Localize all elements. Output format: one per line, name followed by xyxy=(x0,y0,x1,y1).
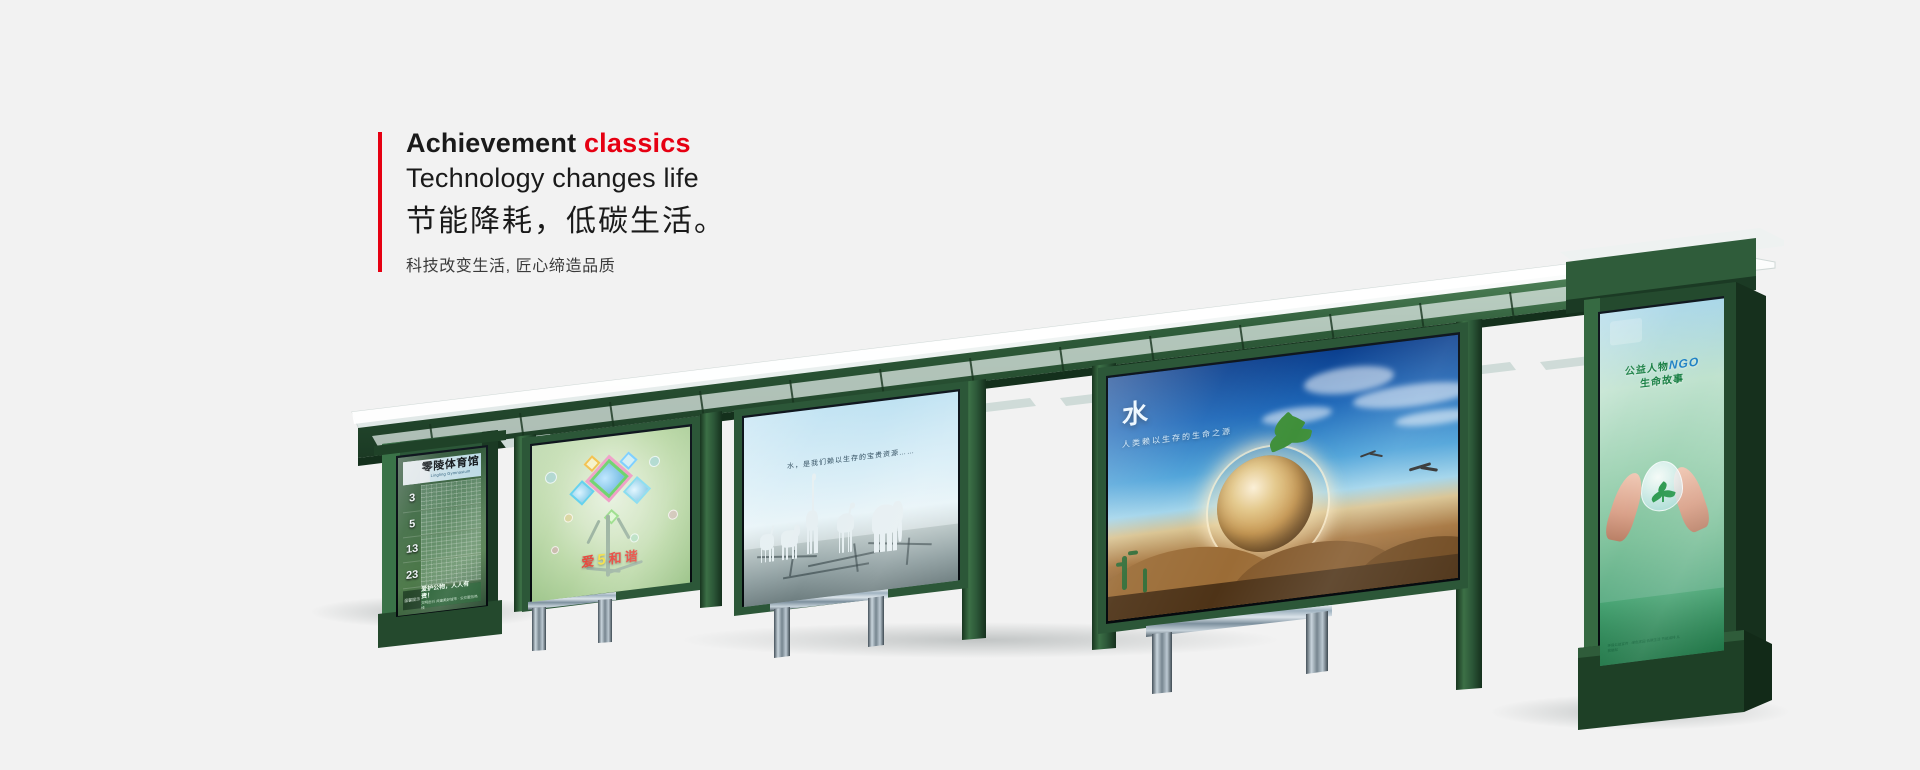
canopy-front-edge xyxy=(352,248,1702,424)
cactus-arm xyxy=(1128,550,1138,555)
route-header-logo-box xyxy=(403,460,420,486)
water-ad-title: 水 xyxy=(1122,392,1149,432)
tree-branch xyxy=(616,517,630,539)
panel-eco-vertical-ad[interactable]: 公益人物NGO 生命故事 环保公益宣传 · 绿色家园 低碳生活 节能减排 从我做… xyxy=(1600,298,1724,666)
post-3 xyxy=(700,411,722,608)
sprout-icon xyxy=(1248,405,1318,462)
panel-love-harmony-ad[interactable]: 爱5和谐 xyxy=(532,427,690,602)
eco-caption-ngo: NGO xyxy=(1669,354,1699,372)
heart-icon-top xyxy=(583,455,600,472)
tree-caption-number: 5 xyxy=(597,551,608,569)
tree-branch xyxy=(586,520,600,545)
hand-left-icon xyxy=(1603,471,1649,543)
eco-sprout-icon xyxy=(1650,480,1676,511)
panel-route-timetable[interactable]: 零陵体育馆 Lingling Gymnasium 3 5 13 xyxy=(398,447,486,616)
tower-body-hi xyxy=(1584,298,1600,694)
panel-water-animals-ad[interactable]: 水，是我们赖以生存的宝贵资源…… xyxy=(744,392,958,607)
panel-water-life-ad[interactable]: 水 人类赖以生存的生命之源 xyxy=(1108,335,1458,621)
bubble-icon xyxy=(564,513,573,523)
cactus-icon xyxy=(1122,555,1127,590)
horse-silhouette xyxy=(757,523,778,563)
heart-icon-right xyxy=(623,476,651,504)
route-footer-label: 温馨提示 xyxy=(403,590,421,611)
route-number: 5 xyxy=(403,511,421,538)
eco-ad-caption: 公益人物NGO 生命故事 xyxy=(1600,351,1724,397)
bird-icon xyxy=(1369,453,1383,458)
route-rows: 3 5 13 23 xyxy=(403,478,480,585)
bubble-icon xyxy=(630,533,639,543)
camel-silhouette xyxy=(834,502,858,554)
scene-canvas: Achievement classics Technology changes … xyxy=(0,0,1920,770)
lion-silhouette xyxy=(778,520,802,561)
tree-caption-right: 和谐 xyxy=(609,548,641,567)
route-number: 13 xyxy=(403,536,421,563)
tower-base-side xyxy=(1744,630,1772,712)
giraffe-silhouette xyxy=(802,472,823,554)
tree-caption-left: 爱 xyxy=(581,553,597,570)
bubble-icon xyxy=(545,471,557,484)
route-number: 3 xyxy=(403,485,421,512)
cactus-icon xyxy=(1143,568,1147,592)
bird-icon xyxy=(1419,466,1437,472)
eco-brand-logo xyxy=(1610,317,1642,346)
canopy-soffit xyxy=(372,270,1718,450)
heart-icon-top-right xyxy=(619,452,637,470)
bus-shelter: 零陵体育馆 Lingling Gymnasium 3 5 13 xyxy=(0,0,1920,770)
bubble-icon xyxy=(551,546,559,555)
heart-icon-left xyxy=(569,480,594,505)
tower-body-side xyxy=(1736,282,1766,676)
bubble-icon xyxy=(649,455,660,467)
bubble-icon xyxy=(668,509,678,520)
cloud-shape xyxy=(1395,406,1458,430)
elephant-silhouette xyxy=(868,492,907,553)
route-number: 23 xyxy=(403,562,421,589)
animals-ad-caption: 水，是我们赖以生存的宝贵资源…… xyxy=(744,441,958,477)
eco-caption-line2: 生命故事 xyxy=(1640,373,1684,390)
